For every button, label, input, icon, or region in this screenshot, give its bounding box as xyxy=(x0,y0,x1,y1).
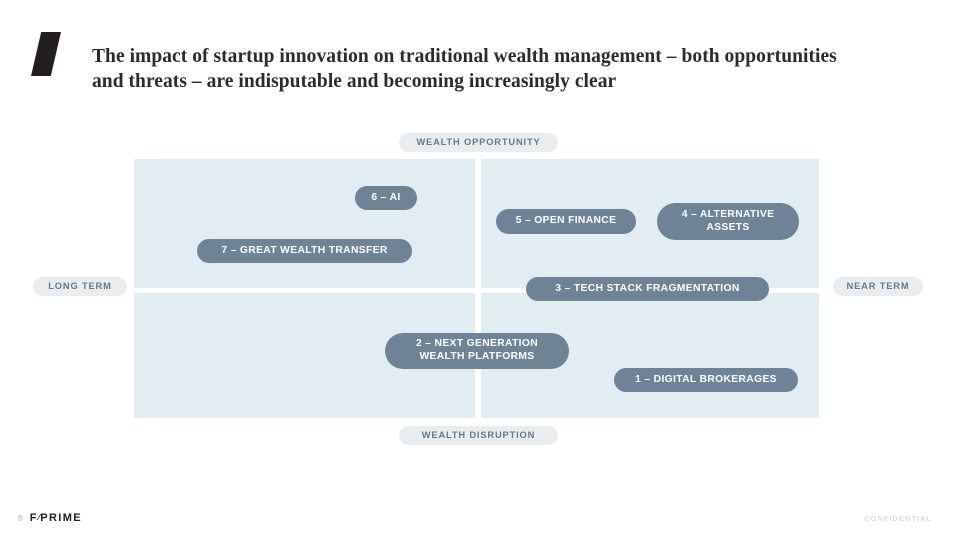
brand-f: F xyxy=(30,512,38,524)
fprime-slide-mark xyxy=(31,32,61,76)
axis-label-wealth-disruption: WEALTH DISRUPTION xyxy=(399,426,558,445)
matrix-item-pill-7[interactable]: 7 – GREAT WEALTH TRANSFER xyxy=(197,239,412,263)
matrix-item-pill-5[interactable]: 5 – OPEN FINANCE xyxy=(496,209,636,234)
parallelogram-icon xyxy=(31,32,61,76)
fprime-logo: F⁄PRIME xyxy=(30,512,82,524)
footer-left: 8 F⁄PRIME xyxy=(18,512,82,524)
confidential-label: CONFIDENTIAL xyxy=(864,514,932,523)
brand-slash-icon: ⁄ xyxy=(38,513,39,522)
matrix-item-pill-6[interactable]: 6 – AI xyxy=(355,186,417,210)
brand-prime: PRIME xyxy=(40,512,82,524)
quadrant-long-term-opportunity xyxy=(134,159,475,288)
axis-label-near-term: NEAR TERM xyxy=(833,277,923,296)
axis-label-long-term: LONG TERM xyxy=(33,277,127,296)
page-number: 8 xyxy=(18,513,23,523)
matrix-item-pill-4[interactable]: 4 – ALTERNATIVE ASSETS xyxy=(657,203,799,240)
matrix-item-pill-1[interactable]: 1 – DIGITAL BROKERAGES xyxy=(614,368,798,392)
page-title: The impact of startup innovation on trad… xyxy=(92,45,852,94)
matrix-item-pill-3[interactable]: 3 – TECH STACK FRAGMENTATION xyxy=(526,277,769,301)
axis-label-wealth-opportunity: WEALTH OPPORTUNITY xyxy=(399,133,558,152)
matrix-item-pill-2[interactable]: 2 – NEXT GENERATION WEALTH PLATFORMS xyxy=(385,333,569,369)
